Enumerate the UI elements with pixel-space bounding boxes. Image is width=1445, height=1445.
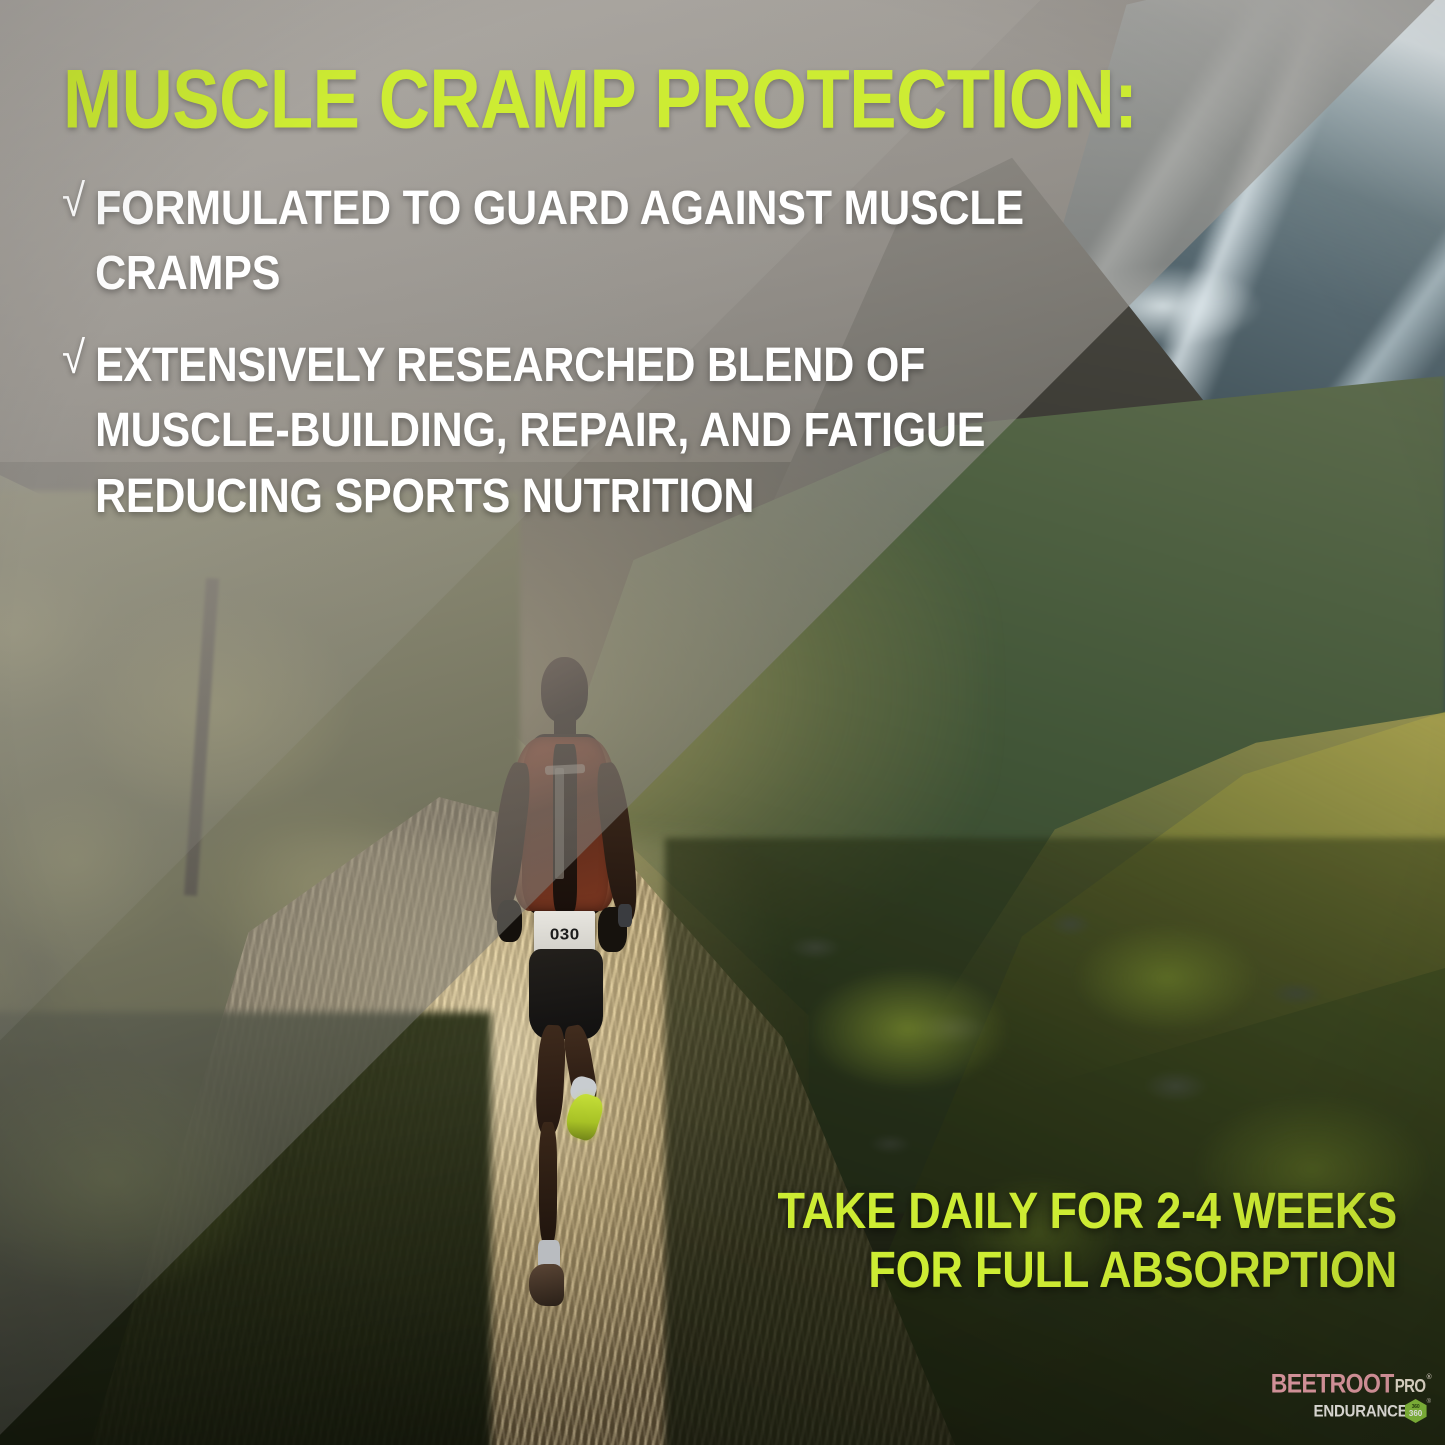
logo-endurance-text: ENDURANCE — [1314, 1402, 1408, 1421]
checkmark-icon: √ — [62, 335, 85, 380]
headline: MUSCLE CRAMP PROTECTION: — [63, 58, 1137, 142]
text-content: MUSCLE CRAMP PROTECTION: √ FORMULATED TO… — [0, 0, 1445, 1445]
logo-primary-row: BEETROOT PRO ® — [1271, 1374, 1431, 1397]
registered-trademark-icon-2: ® — [1427, 1399, 1431, 1405]
callout-line-2: FOR FULL ABSORPTION — [778, 1237, 1397, 1304]
hexagon-badge-icon: 360 360 — [1405, 1399, 1427, 1423]
bullet-list: √ FORMULATED TO GUARD AGAINST MUSCLE CRA… — [62, 176, 1102, 548]
usage-callout: TAKE DAILY FOR 2-4 WEEKS FOR FULL ABSORP… — [778, 1178, 1397, 1295]
callout-line-1: TAKE DAILY FOR 2-4 WEEKS — [778, 1178, 1397, 1245]
bullet-text: EXTENSIVELY RESEARCHED BLEND OF MUSCLE-B… — [95, 333, 985, 529]
bullet-item: √ FORMULATED TO GUARD AGAINST MUSCLE CRA… — [62, 176, 1102, 293]
promo-banner: 030 MUSCLE CRAMP PROTECTION: √ FORMULATE… — [0, 0, 1445, 1445]
checkmark-icon: √ — [62, 178, 85, 223]
bullet-text: FORMULATED TO GUARD AGAINST MUSCLE CRAMP… — [95, 176, 1024, 307]
logo-brand-text: BEETROOT — [1271, 1370, 1394, 1397]
bullet-line: REDUCING SPORTS NUTRITION — [95, 464, 985, 529]
bullet-line: FORMULATED TO GUARD AGAINST MUSCLE — [95, 176, 1024, 241]
bullet-line: CRAMPS — [95, 241, 1024, 306]
bullet-item: √ EXTENSIVELY RESEARCHED BLEND OF MUSCLE… — [62, 333, 1102, 508]
logo-secondary-row: ENDURANCE 360 360 ® — [1271, 1399, 1431, 1423]
badge-number: 360 — [1409, 1410, 1422, 1418]
brand-logo: BEETROOT PRO ® ENDURANCE 360 360 ® — [1271, 1374, 1431, 1423]
bullet-line: EXTENSIVELY RESEARCHED BLEND OF — [95, 333, 985, 398]
bullet-line: MUSCLE-BUILDING, REPAIR, AND FATIGUE — [95, 398, 985, 463]
registered-trademark-icon: ® — [1426, 1374, 1431, 1381]
logo-pro-text: PRO — [1395, 1377, 1426, 1397]
